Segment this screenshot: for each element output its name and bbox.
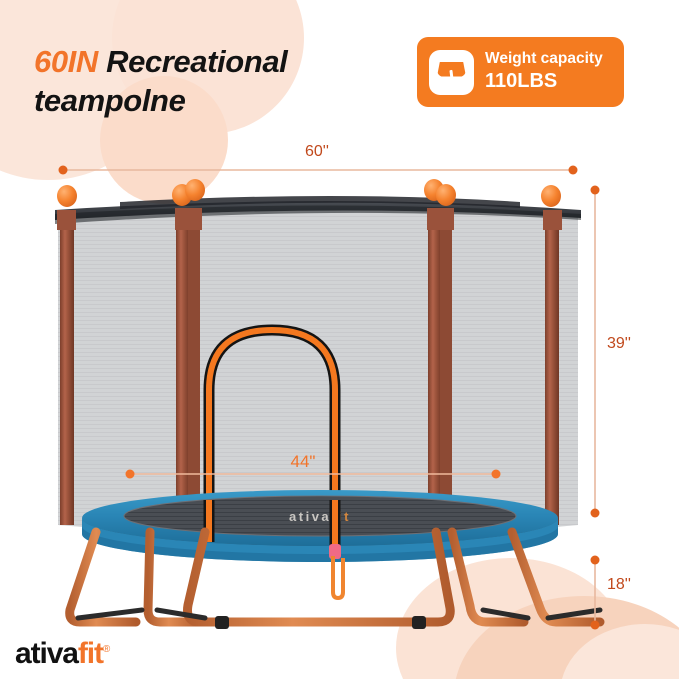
dim-dot-18-bottom bbox=[591, 621, 600, 630]
page-title: 60IN Recreational teampolne bbox=[34, 42, 424, 120]
dim-dot-60-left bbox=[59, 166, 68, 175]
pole-3 bbox=[428, 212, 442, 530]
dim-dot-44-left bbox=[126, 470, 135, 479]
foot-pad-right bbox=[412, 616, 426, 629]
pole-4 bbox=[545, 215, 559, 525]
scale-icon bbox=[429, 50, 474, 95]
pole-cap-2b bbox=[185, 179, 205, 201]
brand-logo: ativafit® bbox=[15, 637, 110, 671]
dim-dot-60-right bbox=[569, 166, 578, 175]
dimension-label-width: 60'' bbox=[305, 143, 329, 161]
pole-cap-3b bbox=[436, 184, 456, 206]
pole-1 bbox=[60, 215, 74, 525]
mat-brand-text: ativafit bbox=[289, 509, 351, 524]
dim-dot-39-bottom bbox=[591, 509, 600, 518]
dim-dot-39-top bbox=[591, 186, 600, 195]
pole-cap-4 bbox=[541, 185, 561, 207]
weight-capacity-badge: Weight capacity 110LBS bbox=[417, 37, 624, 107]
logo-text-accent: fit bbox=[78, 637, 103, 670]
dimension-label-mat: 44" bbox=[291, 452, 316, 472]
product-illustration: ativafit bbox=[0, 140, 679, 679]
dim-dot-18-top bbox=[591, 556, 600, 565]
pole-2b bbox=[188, 212, 200, 530]
header: 60IN Recreational teampolne Weight capac… bbox=[0, 0, 679, 140]
badge-text-group: Weight capacity 110LBS bbox=[485, 50, 603, 93]
pole-3b bbox=[440, 212, 452, 530]
capacity-label: Weight capacity bbox=[485, 50, 603, 69]
logo-registered-mark: ® bbox=[103, 644, 110, 655]
dim-dot-44-right bbox=[492, 470, 501, 479]
logo-text-dark: ativa bbox=[15, 637, 78, 670]
zipper-pull bbox=[333, 556, 343, 598]
dimension-label-height: 39'' bbox=[607, 335, 631, 353]
capacity-value: 110LBS bbox=[485, 69, 603, 93]
pole-cap-1 bbox=[57, 185, 77, 207]
title-highlight: 60IN bbox=[34, 44, 98, 79]
dimension-label-leg-height: 18'' bbox=[607, 576, 631, 594]
pole-2 bbox=[176, 212, 190, 530]
safety-net-enclosure bbox=[58, 204, 578, 537]
foot-pad-left bbox=[215, 616, 229, 629]
